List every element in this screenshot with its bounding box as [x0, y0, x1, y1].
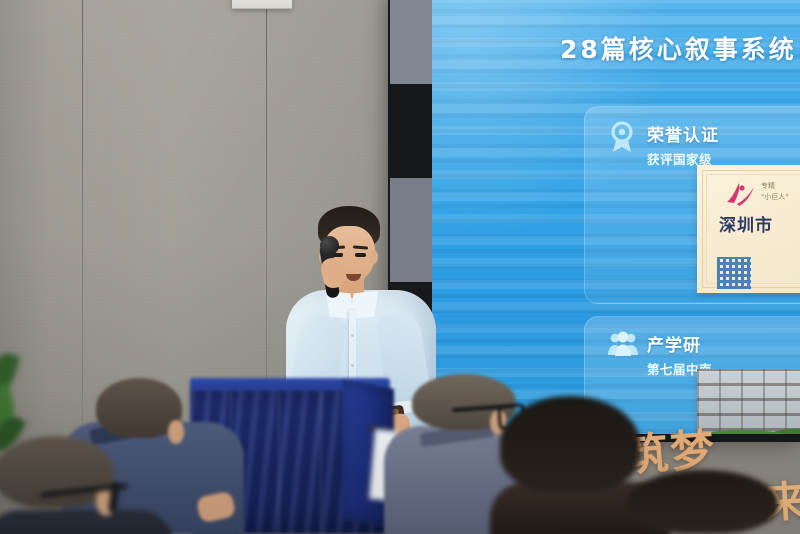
drape-fold: [320, 392, 322, 534]
award-ribbon-icon: [607, 121, 637, 153]
certificate-heading: 深圳市: [719, 211, 773, 236]
audience-member-bottom-right: [628, 470, 800, 534]
speaker-shirt-button: [351, 334, 354, 337]
drape-fold: [278, 392, 280, 534]
projection-screen: 28篇核心叙事系统 荣誉认证 获评国家级: [432, 0, 800, 434]
ceiling-sign: [232, 0, 292, 9]
certificate-image: 专精 "小巨人" 深圳市 有效: [697, 165, 800, 293]
slide-card-honor: 荣誉认证 获评国家级 专精 "小巨人" 深圳市: [584, 106, 800, 304]
audience-shoulders: [0, 510, 174, 534]
card-text-block: 荣誉认证 获评国家级: [647, 121, 719, 168]
photo-scene: 28篇核心叙事系统 荣誉认证 获评国家级: [0, 0, 800, 534]
slide-title: 28篇核心叙事系统: [560, 30, 797, 66]
speaker-eye: [355, 253, 366, 257]
card-header: 荣誉认证 获评国家级: [607, 121, 719, 168]
screen-bezel-patch: [390, 0, 434, 84]
qr-code-icon: [717, 257, 751, 289]
card-title: 产学研: [647, 331, 712, 356]
campus-photo: [697, 369, 800, 434]
audience-hair: [628, 470, 778, 534]
card-title: 荣誉认证: [647, 121, 719, 146]
speaker-shirt-button: [351, 364, 354, 367]
certificate-logo-icon: [723, 181, 757, 207]
campus-trees: [697, 415, 800, 434]
people-group-icon: [607, 331, 637, 363]
certificate-org-text: 专精 "小巨人": [761, 181, 788, 202]
audience-hair: [500, 396, 640, 492]
audience-member-bottom-left: [0, 436, 174, 534]
speaker-ear: [369, 250, 378, 264]
